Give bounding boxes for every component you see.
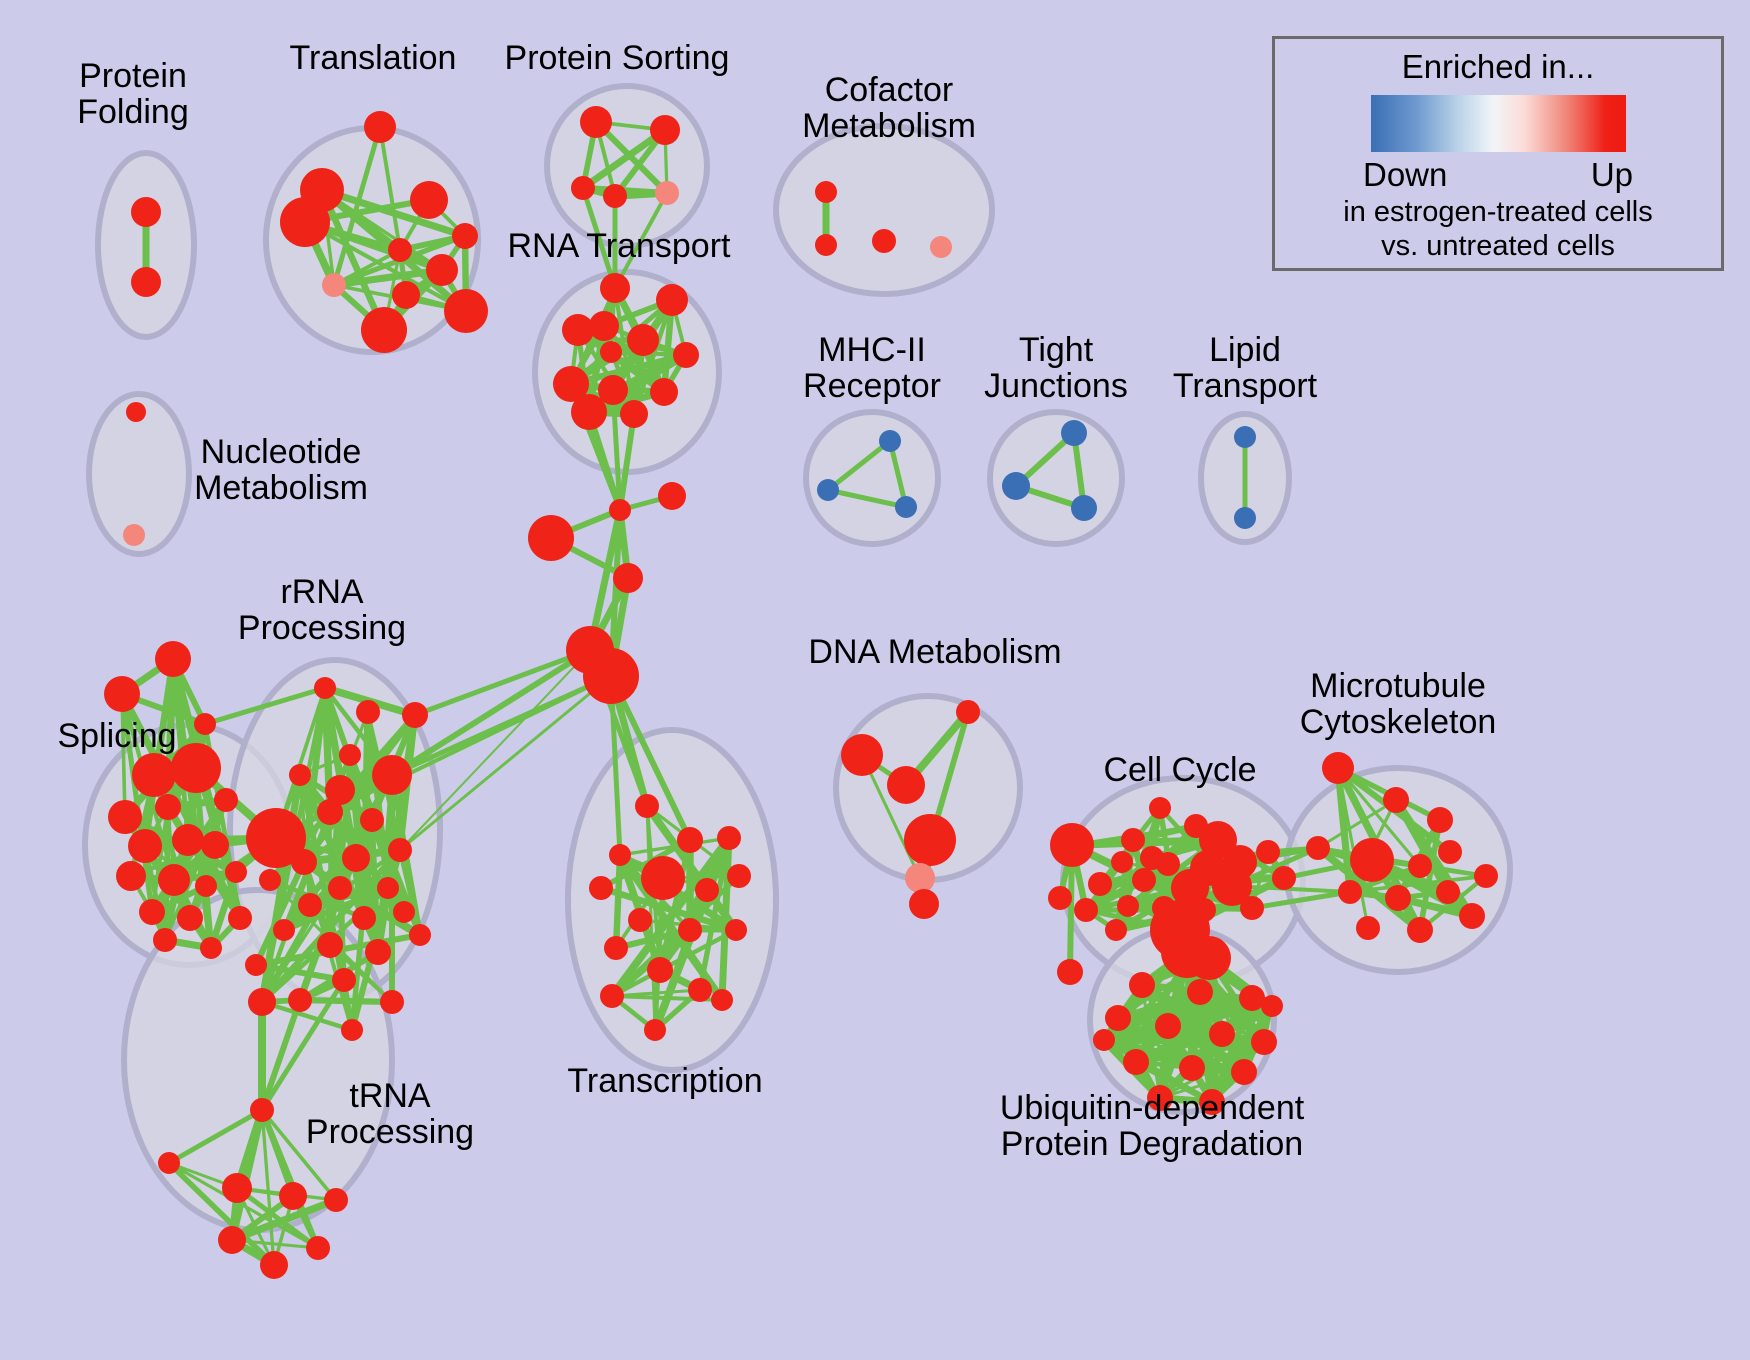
- network-node[interactable]: [298, 893, 322, 917]
- network-node[interactable]: [1199, 1089, 1225, 1115]
- network-node[interactable]: [1105, 1005, 1131, 1031]
- network-node[interactable]: [322, 273, 346, 297]
- network-node[interactable]: [841, 734, 883, 776]
- network-edge: [300, 1000, 392, 1002]
- network-node[interactable]: [365, 939, 391, 965]
- network-node[interactable]: [273, 919, 295, 941]
- network-node[interactable]: [1093, 1029, 1115, 1051]
- network-node[interactable]: [613, 563, 643, 593]
- network-node[interactable]: [314, 677, 336, 699]
- network-node[interactable]: [1234, 507, 1256, 529]
- network-node[interactable]: [627, 324, 659, 356]
- network-node[interactable]: [609, 844, 631, 866]
- network-node[interactable]: [677, 827, 703, 853]
- color-ramp: [1371, 95, 1626, 152]
- network-node[interactable]: [288, 988, 312, 1012]
- network-node[interactable]: [695, 878, 719, 902]
- network-node[interactable]: [609, 499, 631, 521]
- network-node[interactable]: [228, 906, 252, 930]
- network-node[interactable]: [250, 1098, 274, 1122]
- network-node[interactable]: [116, 861, 146, 891]
- network-node[interactable]: [1088, 872, 1112, 896]
- network-node[interactable]: [444, 289, 488, 333]
- network-node[interactable]: [1123, 1049, 1149, 1075]
- network-node[interactable]: [1121, 828, 1145, 852]
- network-node[interactable]: [604, 936, 628, 960]
- network-node[interactable]: [1132, 868, 1156, 892]
- network-node[interactable]: [194, 713, 216, 735]
- network-node[interactable]: [644, 1019, 666, 1041]
- network-node[interactable]: [904, 814, 956, 866]
- network-node[interactable]: [342, 844, 370, 872]
- network-node[interactable]: [717, 826, 741, 850]
- network-node[interactable]: [123, 524, 145, 546]
- network-node[interactable]: [1261, 995, 1283, 1017]
- network-node[interactable]: [658, 482, 686, 510]
- network-node[interactable]: [1231, 1059, 1257, 1085]
- network-node[interactable]: [815, 181, 837, 203]
- network-node[interactable]: [388, 838, 412, 862]
- network-node[interactable]: [341, 1019, 363, 1041]
- network-node[interactable]: [139, 899, 165, 925]
- cluster-ellipse-cofactor-metabolism: [776, 126, 992, 294]
- network-node[interactable]: [1156, 852, 1180, 876]
- network-node[interactable]: [647, 957, 673, 983]
- network-node[interactable]: [580, 106, 612, 138]
- network-node[interactable]: [155, 794, 181, 820]
- network-node[interactable]: [655, 181, 679, 205]
- network-node[interactable]: [1251, 1029, 1277, 1055]
- network-node[interactable]: [600, 984, 624, 1008]
- network-node[interactable]: [887, 766, 925, 804]
- network-node[interactable]: [132, 753, 176, 797]
- network-node[interactable]: [158, 864, 190, 896]
- network-node[interactable]: [392, 281, 420, 309]
- network-node[interactable]: [317, 932, 343, 958]
- network-node[interactable]: [289, 764, 311, 786]
- network-node[interactable]: [678, 918, 702, 942]
- network-node[interactable]: [410, 181, 448, 219]
- network-node[interactable]: [817, 479, 839, 501]
- network-node[interactable]: [673, 342, 699, 368]
- network-node[interactable]: [895, 496, 917, 518]
- network-node[interactable]: [108, 800, 142, 834]
- network-node[interactable]: [600, 273, 630, 303]
- network-node[interactable]: [1385, 885, 1411, 911]
- network-node[interactable]: [259, 869, 281, 891]
- network-node[interactable]: [1350, 838, 1394, 882]
- network-node[interactable]: [1256, 840, 1280, 864]
- network-node[interactable]: [200, 937, 222, 959]
- network-node[interactable]: [1048, 886, 1072, 910]
- network-node[interactable]: [172, 824, 204, 856]
- network-node[interactable]: [352, 906, 376, 930]
- network-node[interactable]: [1002, 472, 1030, 500]
- network-node[interactable]: [589, 311, 619, 341]
- network-node[interactable]: [409, 924, 431, 946]
- network-edge: [616, 855, 620, 948]
- network-node[interactable]: [656, 284, 688, 316]
- network-node[interactable]: [128, 829, 162, 863]
- network-node[interactable]: [248, 988, 276, 1016]
- network-node[interactable]: [332, 968, 356, 992]
- network-node[interactable]: [1129, 972, 1155, 998]
- network-node[interactable]: [214, 788, 238, 812]
- network-node[interactable]: [909, 889, 939, 919]
- network-node[interactable]: [641, 856, 685, 900]
- network-node[interactable]: [905, 863, 935, 893]
- network-node[interactable]: [872, 229, 896, 253]
- network-node[interactable]: [1474, 864, 1498, 888]
- network-node[interactable]: [306, 1236, 330, 1260]
- network-node[interactable]: [725, 919, 747, 941]
- network-node[interactable]: [360, 808, 384, 832]
- network-node[interactable]: [201, 831, 229, 859]
- network-node[interactable]: [1209, 1021, 1235, 1047]
- network-node[interactable]: [815, 234, 837, 256]
- network-node[interactable]: [153, 928, 177, 952]
- network-node[interactable]: [195, 875, 217, 897]
- network-node[interactable]: [171, 743, 221, 793]
- legend-caption-line2: vs. untreated cells: [1381, 230, 1615, 262]
- legend-high-label: Up: [1591, 156, 1633, 194]
- network-node[interactable]: [1356, 916, 1380, 940]
- network-node[interactable]: [879, 430, 901, 452]
- network-node[interactable]: [225, 861, 247, 883]
- network-node[interactable]: [372, 755, 412, 795]
- network-node[interactable]: [1179, 1055, 1205, 1081]
- network-node[interactable]: [956, 700, 980, 724]
- network-node[interactable]: [1147, 1085, 1173, 1111]
- network-node[interactable]: [1408, 854, 1432, 878]
- network-node[interactable]: [245, 954, 267, 976]
- network-node[interactable]: [126, 402, 146, 422]
- legend-endpoint-labels: Down Up: [1363, 156, 1633, 194]
- network-node[interactable]: [1061, 420, 1087, 446]
- network-node[interactable]: [279, 1182, 307, 1210]
- network-node[interactable]: [583, 648, 639, 704]
- network-node[interactable]: [1438, 840, 1462, 864]
- network-node[interactable]: [571, 176, 595, 200]
- network-node[interactable]: [711, 989, 733, 1011]
- enrichment-map-figure: Enriched in... Down Up in estrogen-treat…: [0, 0, 1750, 1360]
- network-node[interactable]: [1427, 807, 1453, 833]
- network-node[interactable]: [1234, 426, 1256, 448]
- network-node[interactable]: [1338, 880, 1362, 904]
- network-node[interactable]: [528, 515, 574, 561]
- network-node[interactable]: [620, 400, 648, 428]
- network-node[interactable]: [361, 307, 407, 353]
- network-node[interactable]: [402, 702, 428, 728]
- network-node[interactable]: [1383, 787, 1409, 813]
- network-node[interactable]: [222, 1173, 252, 1203]
- network-node[interactable]: [317, 799, 343, 825]
- network-node[interactable]: [356, 700, 380, 724]
- network-node[interactable]: [1105, 919, 1127, 941]
- network-node[interactable]: [650, 115, 680, 145]
- network-node[interactable]: [1459, 903, 1485, 929]
- network-node[interactable]: [291, 849, 317, 875]
- network-node[interactable]: [603, 184, 627, 208]
- network-node[interactable]: [155, 641, 191, 677]
- cluster-ellipse-transcription: [568, 730, 776, 1070]
- network-node[interactable]: [364, 111, 396, 143]
- network-node[interactable]: [1187, 936, 1231, 980]
- network-node[interactable]: [328, 876, 352, 900]
- network-node[interactable]: [688, 978, 712, 1002]
- network-node[interactable]: [380, 990, 404, 1014]
- network-node[interactable]: [377, 877, 399, 899]
- network-node[interactable]: [177, 905, 203, 931]
- network-node[interactable]: [1057, 959, 1083, 985]
- network-node[interactable]: [727, 864, 751, 888]
- network-node[interactable]: [388, 238, 412, 262]
- network-node[interactable]: [452, 223, 478, 249]
- network-node[interactable]: [1322, 752, 1354, 784]
- legend-box: Enriched in... Down Up in estrogen-treat…: [1272, 36, 1724, 271]
- network-node[interactable]: [324, 1188, 348, 1212]
- network-node[interactable]: [339, 744, 361, 766]
- network-node[interactable]: [628, 908, 652, 932]
- network-node[interactable]: [1436, 880, 1460, 904]
- network-node[interactable]: [930, 236, 952, 258]
- network-node[interactable]: [1240, 896, 1264, 920]
- network-node[interactable]: [1111, 851, 1133, 873]
- network-node[interactable]: [571, 394, 607, 430]
- network-node[interactable]: [1074, 898, 1098, 922]
- network-node[interactable]: [218, 1226, 246, 1254]
- network-node[interactable]: [280, 197, 330, 247]
- legend-title: Enriched in...: [1402, 48, 1595, 86]
- network-node[interactable]: [589, 876, 613, 900]
- network-node[interactable]: [426, 254, 458, 286]
- network-node[interactable]: [1272, 866, 1296, 890]
- network-node[interactable]: [104, 676, 140, 712]
- network-node[interactable]: [562, 314, 594, 346]
- network-node[interactable]: [1050, 823, 1094, 867]
- network-node[interactable]: [635, 794, 659, 818]
- network-node[interactable]: [158, 1152, 180, 1174]
- network-node[interactable]: [393, 901, 415, 923]
- legend-low-label: Down: [1363, 156, 1447, 194]
- network-node[interactable]: [1149, 797, 1171, 819]
- network-node[interactable]: [260, 1251, 288, 1279]
- legend-caption-line1: in estrogen-treated cells: [1343, 196, 1653, 228]
- network-node[interactable]: [131, 197, 161, 227]
- network-node[interactable]: [1407, 917, 1433, 943]
- network-node[interactable]: [1306, 836, 1330, 860]
- network-node[interactable]: [1155, 1013, 1181, 1039]
- network-node[interactable]: [131, 267, 161, 297]
- network-node[interactable]: [1071, 495, 1097, 521]
- cluster-ellipse-mhc-ii-receptor: [806, 412, 938, 544]
- network-node[interactable]: [600, 341, 622, 363]
- network-node[interactable]: [1187, 979, 1213, 1005]
- network-node[interactable]: [1117, 895, 1139, 917]
- cluster-ellipse-protein-sorting: [547, 86, 707, 246]
- network-node[interactable]: [650, 378, 678, 406]
